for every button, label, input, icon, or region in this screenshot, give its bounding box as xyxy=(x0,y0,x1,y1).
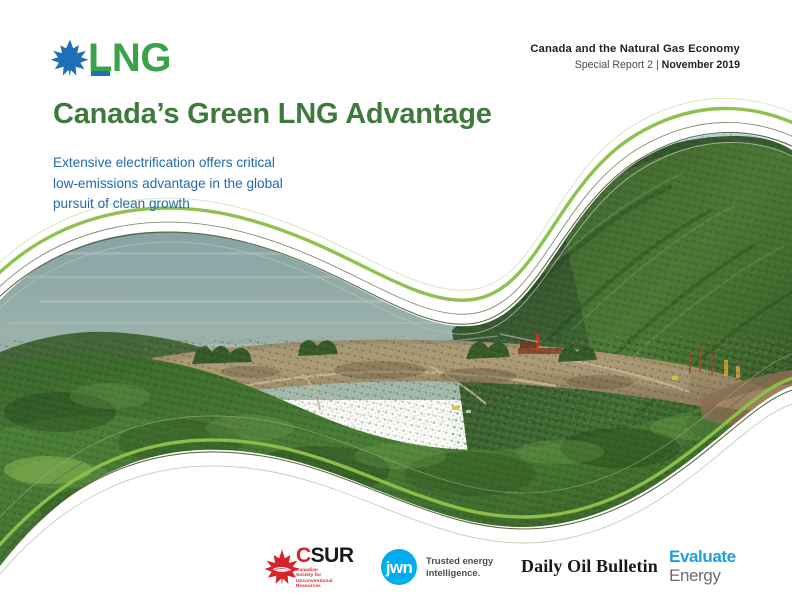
lng-logo: LNG xyxy=(50,36,171,80)
page-subtitle: Extensive electrification offers critica… xyxy=(53,153,523,215)
csur-tagline-line-4: Resources xyxy=(296,583,354,588)
partner-logo-evaluate-energy[interactable]: Evaluate Energy xyxy=(669,547,736,585)
issue-line: Special Report 2 | November 2019 xyxy=(530,58,740,73)
partner-logo-daily-oil-bulletin[interactable]: Daily Oil Bulletin xyxy=(521,556,658,577)
csur-initial: C xyxy=(296,544,311,567)
evaluate-energy-line-2: Energy xyxy=(669,566,736,585)
csur-rest: SUR xyxy=(311,544,354,567)
jwn-tagline-line-2: intelligence. xyxy=(426,567,493,579)
csur-text-group: CSUR Canadian Society for Unconventional… xyxy=(296,546,354,588)
header-meta: Canada and the Natural Gas Economy Speci… xyxy=(530,42,740,73)
lng-underscore-accent xyxy=(91,71,110,76)
title-block: Canada’s Green LNG Advantage Extensive e… xyxy=(53,96,523,215)
jwn-tagline: Trusted energy intelligence. xyxy=(426,555,493,579)
subtitle-line-2: low-emissions advantage in the global xyxy=(53,174,523,195)
jwn-mark-text: jwn xyxy=(386,559,413,576)
csur-wordmark: CSUR xyxy=(296,546,354,566)
page-title: Canada’s Green LNG Advantage xyxy=(53,96,523,132)
cover-header: LNG Canada and the Natural Gas Economy S… xyxy=(0,0,792,96)
issue-date: November 2019 xyxy=(662,59,740,71)
jwn-tagline-line-1: Trusted energy xyxy=(426,555,493,567)
issue-prefix: Special Report 2 | xyxy=(575,59,662,71)
series-title: Canada and the Natural Gas Economy xyxy=(530,42,740,57)
subtitle-line-1: Extensive electrification offers critica… xyxy=(53,153,523,174)
jwn-circle-mark: jwn xyxy=(381,549,417,585)
lng-wordmark: LNG xyxy=(88,38,171,78)
maple-leaf-icon xyxy=(50,38,90,78)
evaluate-energy-line-1: Evaluate xyxy=(669,547,736,566)
partner-logo-csur[interactable]: CSUR Canadian Society for Unconventional… xyxy=(262,546,354,588)
partner-logo-jwn[interactable]: jwn Trusted energy intelligence. xyxy=(381,548,493,586)
report-cover-page: LNG Canada and the Natural Gas Economy S… xyxy=(0,0,792,612)
csur-tagline: Canadian Society for Unconventional Reso… xyxy=(296,567,354,588)
partner-logo-bar: CSUR Canadian Society for Unconventional… xyxy=(0,542,792,598)
subtitle-line-3: pursuit of clean growth xyxy=(53,194,523,215)
